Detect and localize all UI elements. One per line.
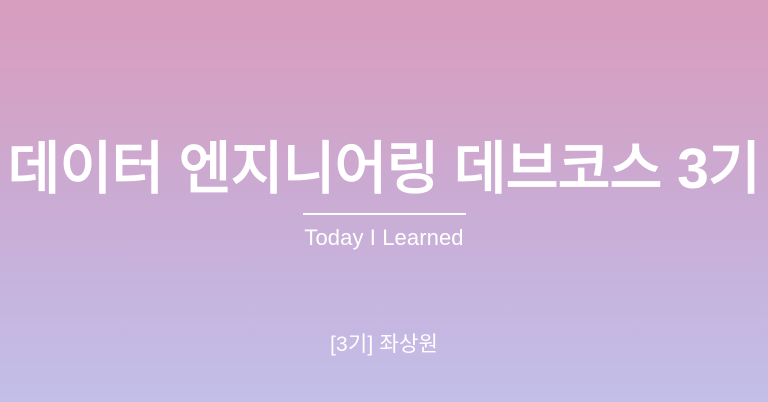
banner-byline: [3기] 좌상원 (0, 331, 768, 358)
banner-subtitle: Today I Learned (304, 224, 463, 253)
title-divider (303, 213, 466, 215)
page-title: 데이터 엔지니어링 데브코스 3기 (8, 138, 760, 202)
banner-title-block: 데이터 엔지니어링 데브코스 3기 Today I Learned (0, 138, 768, 252)
blog-header-banner: 데이터 엔지니어링 데브코스 3기 Today I Learned [3기] 좌… (0, 0, 768, 402)
